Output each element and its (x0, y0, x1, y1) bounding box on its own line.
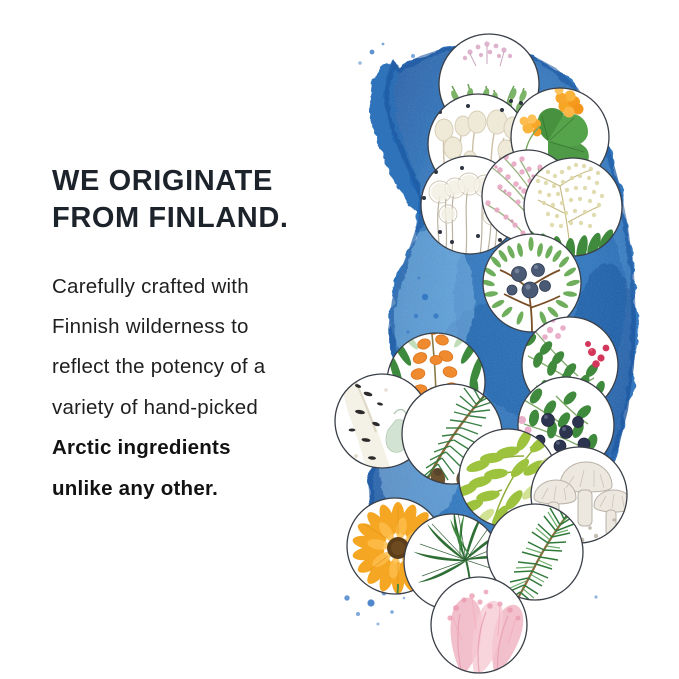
ingredient-circle-spruce (487, 502, 583, 602)
body-line-5: Arctic ingredients (52, 428, 352, 468)
body-line-3: reflect the potency of a (52, 347, 352, 387)
ingredient-circle-lingonberry (522, 317, 618, 413)
ingredient-circle-sea-buckthorn (387, 326, 485, 447)
ingredient-circle-pink-willowherb (431, 577, 527, 678)
ingredient-circle-mushrooms (531, 447, 637, 554)
ingredient-circle-heather (439, 34, 539, 134)
body-line-2: Finnish wilderness to (52, 307, 352, 347)
ingredient-circle-pine (402, 382, 502, 489)
map-northwest-arm (370, 62, 424, 214)
body-line-1: Carefully crafted with (52, 267, 352, 307)
map-edge-darkening (368, 44, 636, 600)
map-wash-layers (340, 40, 660, 620)
ingredient-circle-calendula (347, 498, 444, 614)
body-line-4: variety of hand-picked (52, 388, 352, 428)
map-shape (368, 44, 636, 600)
page-title: WE ORIGINATE FROM FINLAND. (52, 163, 352, 237)
ingredient-circle-cloudberry (511, 86, 609, 187)
ingredient-circle-hemp (404, 508, 519, 610)
body-line-6: unlike any other. (52, 469, 352, 509)
ingredient-circle-fireweed (482, 150, 574, 242)
ingredient-circle-cotton-grass (428, 94, 528, 194)
paint-splatter (344, 43, 635, 626)
poster-canvas: WE ORIGINATE FROM FINLAND. Carefully cra… (0, 0, 679, 679)
body-copy: Carefully crafted with Finnish wildernes… (52, 267, 352, 509)
text-block: WE ORIGINATE FROM FINLAND. Carefully cra… (52, 163, 352, 509)
headline-line-2: FROM FINLAND. (52, 200, 352, 237)
ingredient-circle-green-leaf (445, 427, 569, 529)
ingredient-circle-meadowsweet (524, 158, 622, 266)
ingredient-circle-bilberry (516, 377, 614, 473)
ingredient-circle-dandelion (421, 156, 519, 254)
ingredient-circle-juniper (481, 234, 581, 332)
headline-line-1: WE ORIGINATE (52, 163, 352, 200)
